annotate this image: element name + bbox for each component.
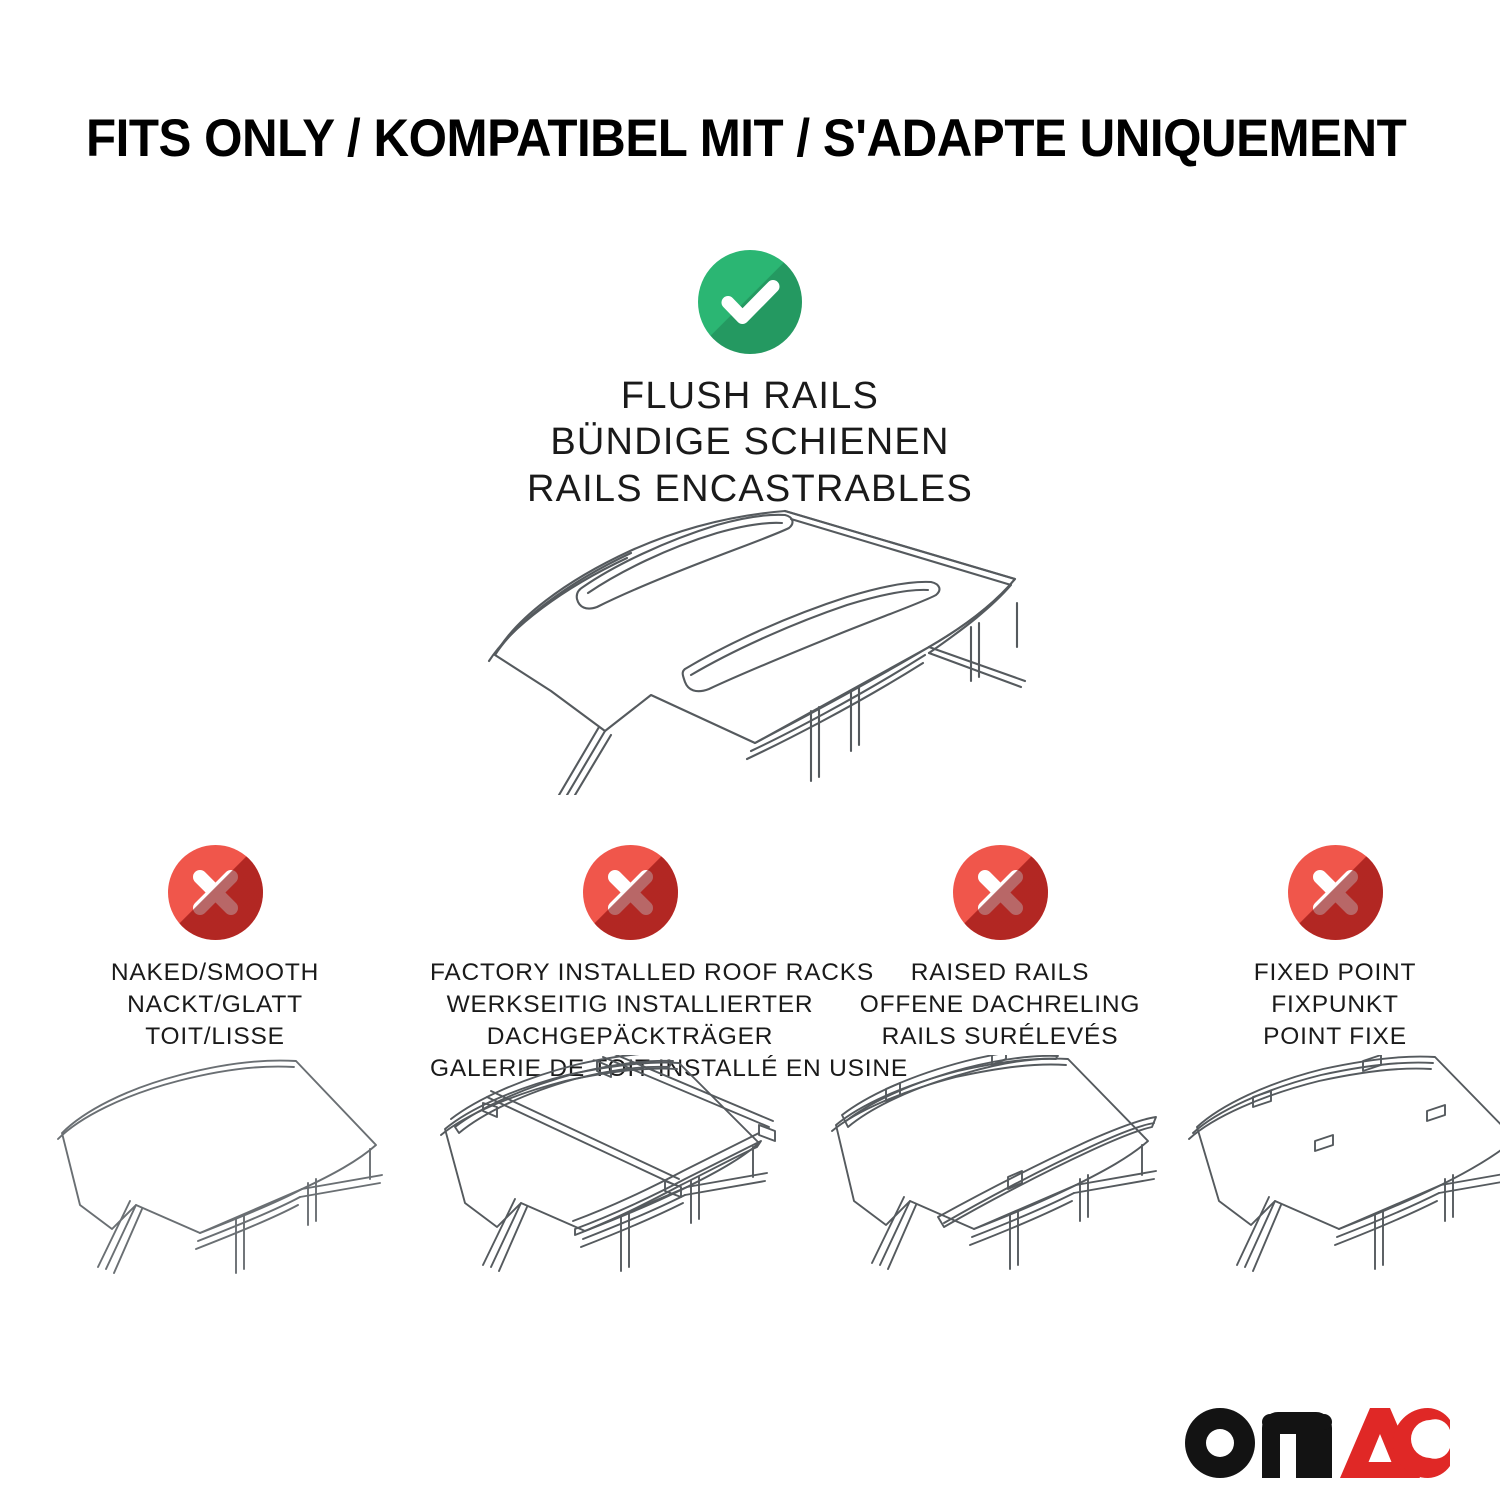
excluded-label-line-3: POINT FIXE	[1170, 1021, 1500, 1053]
excluded-column-raised-rails: RAISED RAILS OFFENE DACHRELING RAILS SUR…	[830, 845, 1170, 1053]
fixed-point-roof-illustration	[1175, 1055, 1500, 1285]
excluded-label-line-1: FIXED POINT	[1170, 957, 1500, 989]
excluded-labels: NAKED/SMOOTH NACKT/GLATT TOIT/LISSE	[0, 957, 430, 1053]
excluded-label-line-3: DACHGEPÄCKTRÄGER	[430, 1021, 830, 1053]
excluded-label-line-2: NACKT/GLATT	[0, 989, 430, 1021]
x-icon-shadow	[168, 845, 263, 940]
omac-logo	[1184, 1396, 1454, 1482]
approved-label-line-2: BÜNDIGE SCHIENEN	[0, 419, 1500, 465]
approved-section: FLUSH RAILS BÜNDIGE SCHIENEN RAILS ENCAS…	[0, 250, 1500, 512]
red-x-icon	[168, 845, 263, 940]
excluded-labels: FIXED POINT FIXPUNKT POINT FIXE	[1170, 957, 1500, 1053]
excluded-label-line-2: WERKSEITIG INSTALLIERTER	[430, 989, 830, 1021]
x-icon-shadow	[1288, 845, 1383, 940]
red-x-icon	[1288, 845, 1383, 940]
excluded-label-line-3: TOIT/LISSE	[0, 1021, 430, 1053]
red-x-icon	[583, 845, 678, 940]
flush-rails-roof-illustration	[455, 495, 1055, 795]
bare-roof-illustration	[40, 1055, 420, 1285]
logo-letter-m	[1262, 1412, 1332, 1478]
x-icon-shadow	[583, 845, 678, 940]
excluded-column-factory-rack: FACTORY INSTALLED ROOF RACKS WERKSEITIG …	[430, 845, 830, 1084]
excluded-column-naked-smooth: NAKED/SMOOTH NACKT/GLATT TOIT/LISSE	[0, 845, 430, 1053]
excluded-section: NAKED/SMOOTH NACKT/GLATT TOIT/LISSE FACT…	[0, 845, 1500, 1084]
excluded-label-line-3: RAILS SURÉLEVÉS	[830, 1021, 1170, 1053]
factory-rack-roof-illustration	[425, 1055, 805, 1285]
excluded-label-line-2: OFFENE DACHRELING	[830, 989, 1170, 1021]
logo-letter-o	[1185, 1408, 1255, 1478]
check-glyph	[698, 250, 802, 354]
red-x-icon	[953, 845, 1048, 940]
approved-labels: FLUSH RAILS BÜNDIGE SCHIENEN RAILS ENCAS…	[0, 373, 1500, 512]
excluded-label-line-1: RAISED RAILS	[830, 957, 1170, 989]
excluded-labels: RAISED RAILS OFFENE DACHRELING RAILS SUR…	[830, 957, 1170, 1053]
excluded-label-line-2: FIXPUNKT	[1170, 989, 1500, 1021]
excluded-label-line-1: NAKED/SMOOTH	[0, 957, 430, 989]
excluded-illustrations-row	[0, 1055, 1500, 1285]
green-check-icon	[698, 250, 802, 354]
raised-rails-roof-illustration	[812, 1055, 1192, 1285]
page-title: FITS ONLY / KOMPATIBEL MIT / S'ADAPTE UN…	[86, 108, 1332, 169]
x-icon-shadow	[953, 845, 1048, 940]
excluded-label-line-1: FACTORY INSTALLED ROOF RACKS	[430, 957, 830, 989]
approved-label-line-1: FLUSH RAILS	[0, 373, 1500, 419]
excluded-column-fixed-point: FIXED POINT FIXPUNKT POINT FIXE	[1170, 845, 1500, 1053]
